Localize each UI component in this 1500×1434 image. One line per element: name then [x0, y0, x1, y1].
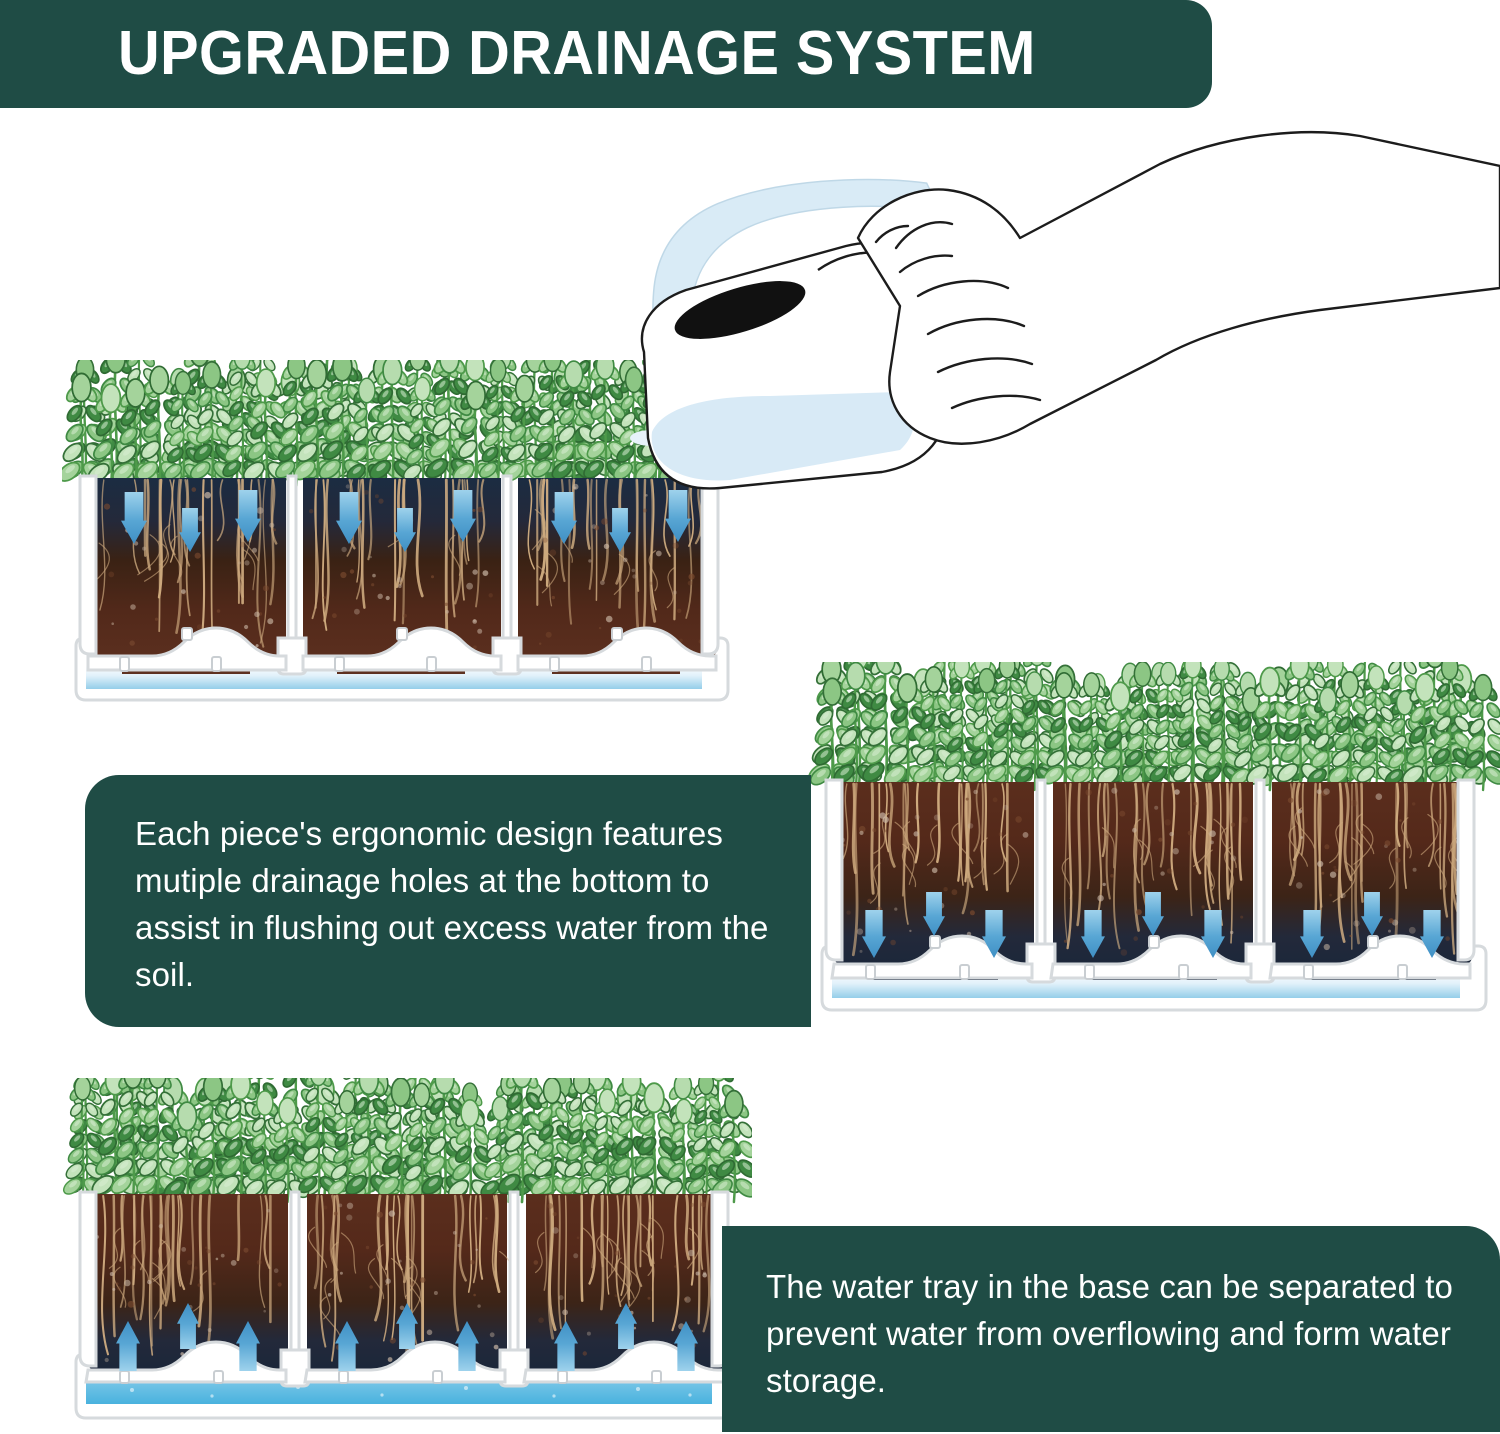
planter-cross-section-3 [62, 1078, 752, 1434]
watering-scene-svg [600, 120, 1500, 550]
hand-and-forearm [858, 132, 1500, 443]
page-title: UPGRADED DRAINAGE SYSTEM [118, 23, 1036, 85]
caption-text-2: The water tray in the base can be separa… [766, 1264, 1474, 1405]
header-banner: UPGRADED DRAINAGE SYSTEM [0, 0, 1212, 108]
caption-box-drainage-holes: Each piece's ergonomic design features m… [85, 775, 811, 1027]
foliage-group-2 [808, 662, 1500, 790]
planter-middle-right [808, 662, 1500, 1030]
planter-bottom-left [62, 1078, 752, 1434]
infographic-stage: UPGRADED DRAINAGE SYSTEM [0, 0, 1500, 1432]
foliage-group-3 [62, 1078, 752, 1202]
hand-with-watering-can [600, 120, 1500, 550]
caption-box-water-tray: The water tray in the base can be separa… [722, 1226, 1500, 1432]
caption-text-1: Each piece's ergonomic design features m… [135, 811, 791, 998]
planter-cross-section-2 [808, 662, 1500, 1030]
